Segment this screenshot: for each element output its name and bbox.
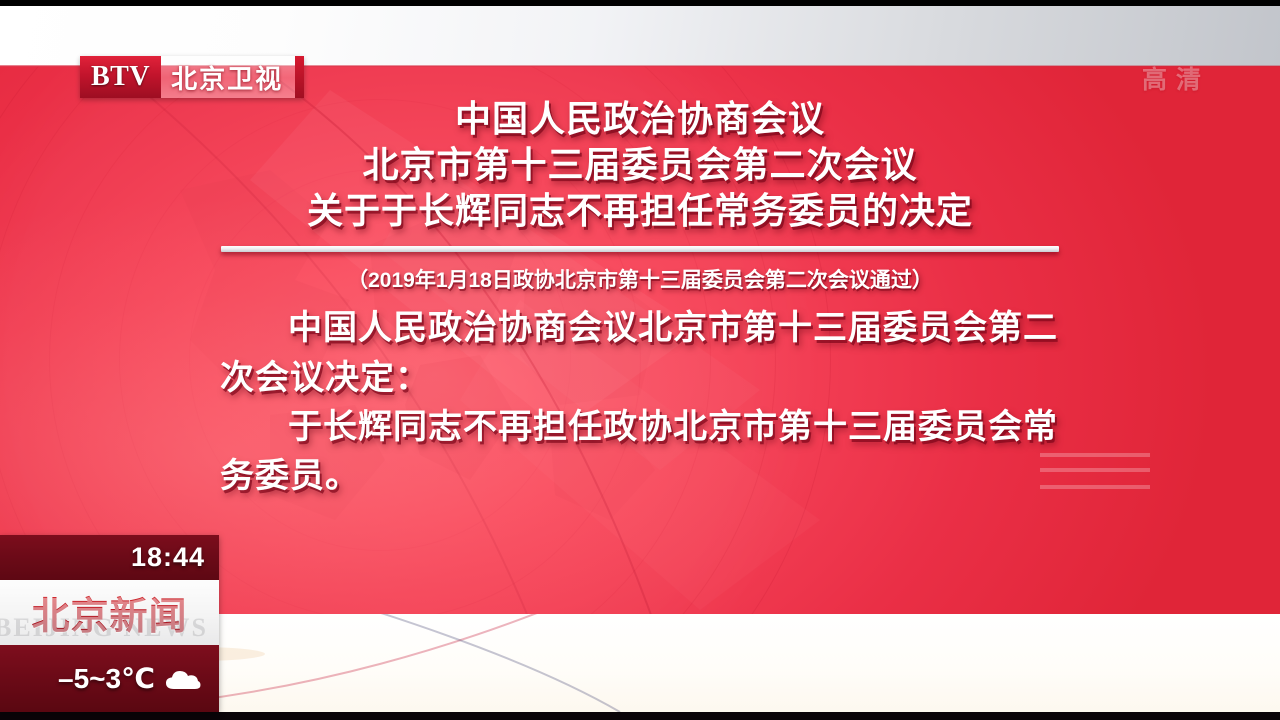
lower-third: 18:44 BEIJING NEWS 北京新闻 –5~3℃ [0,535,219,712]
weather-temperature: –5~3℃ [58,662,155,695]
body-paragraph-1: 中国人民政治协商会议北京市第十三届委员会第二次会议决定： [220,304,1060,403]
clock-panel: 18:44 [0,535,219,580]
main-content: 中国人民政治协商会议 北京市第十三届委员会第二次会议 关于于长辉同志不再担任常务… [0,96,1280,501]
channel-logo-latin: BTV [80,56,161,98]
hd-badge: 高清 [1142,60,1210,96]
weather-panel: –5~3℃ [0,645,219,712]
body-text: 中国人民政治协商会议北京市第十三届委员会第二次会议决定： 于长辉同志不再担任政协… [220,304,1060,501]
program-title: 北京新闻 [31,585,187,640]
headline: 中国人民政治协商会议 北京市第十三届委员会第二次会议 关于于长辉同志不再担任常务… [0,96,1280,234]
cloud-icon [165,668,201,690]
body-paragraph-2: 于长辉同志不再担任政协北京市第十三届委员会常务委员。 [220,403,1060,502]
channel-logo: BTV 北京卫视 [80,56,304,98]
letterbox-bottom [0,712,1280,720]
program-title-panel: BEIJING NEWS 北京新闻 [0,580,219,645]
clock-time: 18:44 [131,542,205,573]
adoption-note: （2019年1月18日政协北京市第十三届委员会第二次会议通过） [0,264,1280,294]
title-divider [221,246,1059,252]
headline-line-1: 中国人民政治协商会议 [0,96,1280,142]
headline-line-3: 关于于长辉同志不再担任常务委员的决定 [0,188,1280,234]
broadcast-screen: BTV 北京卫视 高清 中国人民政治协商会议 北京市第十三届委员会第二次会议 关… [0,0,1280,720]
headline-line-2: 北京市第十三届委员会第二次会议 [0,142,1280,188]
channel-logo-tail [295,56,304,98]
channel-logo-chinese: 北京卫视 [161,56,295,98]
